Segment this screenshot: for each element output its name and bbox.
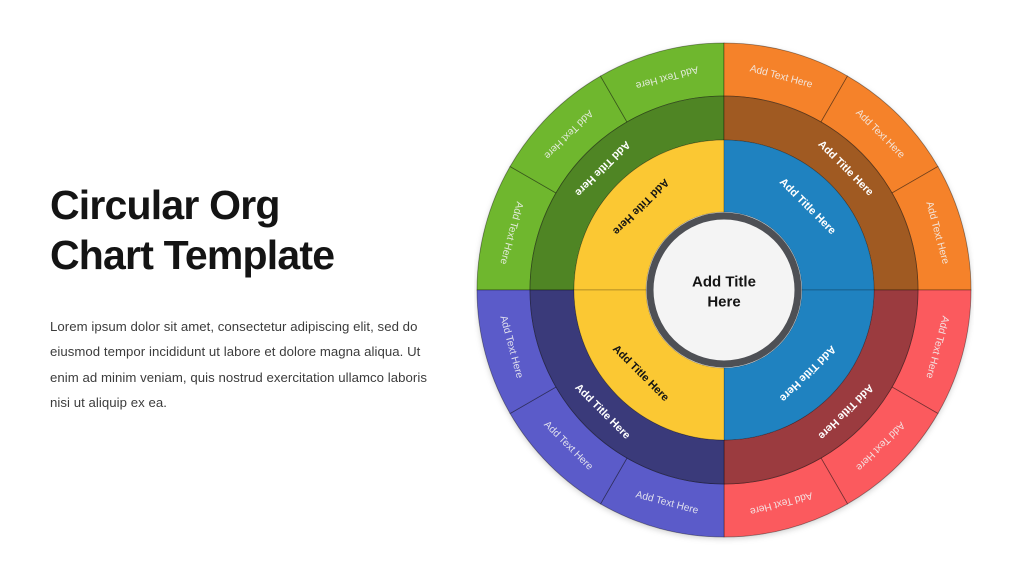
slide-canvas: Circular Org Chart Template Lorem ipsum … <box>0 0 1024 576</box>
circular-org-chart: Add Text HereAdd Text HereAdd Text HereA… <box>474 20 974 560</box>
center-hub[interactable] <box>650 216 798 364</box>
page-title: Circular Org Chart Template <box>50 180 440 280</box>
chart-root: Add Text HereAdd Text HereAdd Text HereA… <box>477 43 971 537</box>
text-pane: Circular Org Chart Template Lorem ipsum … <box>50 180 440 415</box>
chart-svg: Add Text HereAdd Text HereAdd Text HereA… <box>474 20 974 560</box>
body-paragraph: Lorem ipsum dolor sit amet, consectetur … <box>50 314 440 415</box>
